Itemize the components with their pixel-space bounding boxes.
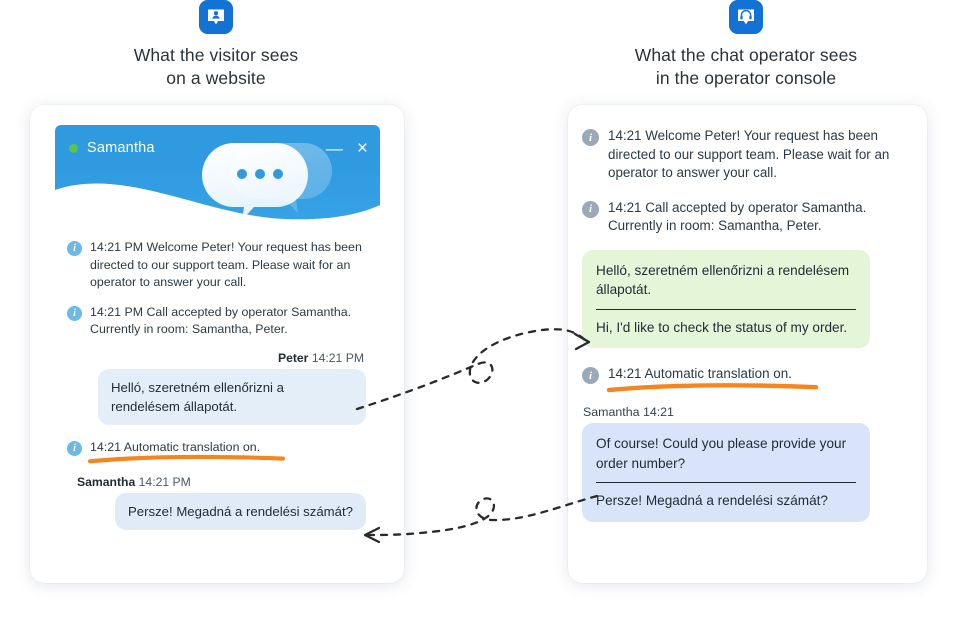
system-message-text: 14:21 PM Call accepted by operator Saman… bbox=[90, 304, 366, 339]
system-message-translation: i 14:21 Automatic translation on. bbox=[67, 439, 366, 457]
incoming-message: Helló, szeretném ellenőrizni a rendelése… bbox=[582, 250, 915, 349]
info-icon: i bbox=[67, 241, 82, 256]
system-message-text: 14:21 PM Welcome Peter! Your request has… bbox=[90, 239, 366, 292]
message-author: Samantha bbox=[583, 405, 639, 419]
message-time: 14:21 PM bbox=[139, 475, 191, 489]
system-message: i 14:21 Call accepted by operator Samant… bbox=[582, 199, 915, 236]
close-icon[interactable]: × bbox=[357, 139, 368, 158]
operator-message-list: i 14:21 Welcome Peter! Your request has … bbox=[582, 127, 915, 522]
system-message-text: 14:21 Welcome Peter! Your request has be… bbox=[608, 127, 915, 183]
info-icon: i bbox=[582, 129, 599, 146]
outgoing-message: Samantha 14:21 Of course! Could you plea… bbox=[582, 405, 915, 522]
column-header-operator: What the chat operator sees in the opera… bbox=[566, 0, 926, 90]
column-title-operator-line2: in the operator console bbox=[566, 67, 926, 90]
column-title-operator-line1: What the chat operator sees bbox=[566, 44, 926, 67]
column-title-visitor-line2: on a website bbox=[36, 67, 396, 90]
chat-widget-actions: — × bbox=[326, 139, 368, 158]
visitor-card: Samantha — × i 14:21 PM Welcome Peter! Y… bbox=[30, 105, 404, 583]
column-header-visitor: What the visitor sees on a website bbox=[36, 0, 396, 90]
message-meta: Samantha 14:21 PM bbox=[67, 475, 366, 489]
message-bubble: Persze! Megadná a rendelési számát? bbox=[115, 493, 366, 530]
chat-widget-titlebar: Samantha — × bbox=[55, 125, 380, 165]
column-title-visitor-line1: What the visitor sees bbox=[36, 44, 396, 67]
system-message: i 14:21 PM Call accepted by operator Sam… bbox=[67, 304, 366, 339]
header-wave-divider bbox=[55, 172, 380, 223]
info-icon: i bbox=[67, 441, 82, 456]
info-icon: i bbox=[582, 367, 599, 384]
minimize-icon[interactable]: — bbox=[326, 140, 343, 157]
visitor-message: Peter 14:21 PM Helló, szeretném ellenőri… bbox=[67, 351, 366, 425]
visitor-message-list: i 14:21 PM Welcome Peter! Your request h… bbox=[55, 223, 380, 530]
message-translated-text: Hi, I'd like to check the status of my o… bbox=[596, 309, 856, 338]
system-message-translation: i 14:21 Automatic translation on. bbox=[582, 365, 915, 384]
message-time: 14:21 PM bbox=[312, 351, 364, 365]
message-author: Samantha bbox=[77, 475, 135, 489]
message-original-text: Of course! Could you please provide your… bbox=[596, 434, 856, 473]
message-time: 14:21 bbox=[643, 405, 674, 419]
online-status-dot bbox=[69, 144, 78, 153]
infographic-stage: What the visitor sees on a website What … bbox=[0, 0, 958, 620]
headset-badge-icon bbox=[729, 0, 763, 34]
chat-widget-header: Samantha — × bbox=[55, 125, 380, 223]
info-icon: i bbox=[582, 201, 599, 218]
message-translated-text: Persze! Megadná a rendelési számát? bbox=[596, 482, 856, 511]
message-meta: Peter 14:21 PM bbox=[67, 351, 366, 365]
operator-message: Samantha 14:21 PM Persze! Megadná a rend… bbox=[67, 475, 366, 530]
system-message: i 14:21 PM Welcome Peter! Your request h… bbox=[67, 239, 366, 292]
system-message-text: 14:21 Call accepted by operator Samantha… bbox=[608, 199, 915, 236]
info-icon: i bbox=[67, 306, 82, 321]
message-author: Peter bbox=[278, 351, 309, 365]
visitor-badge-icon bbox=[199, 0, 233, 34]
system-message: i 14:21 Welcome Peter! Your request has … bbox=[582, 127, 915, 183]
chat-widget: Samantha — × i 14:21 PM Welcome Peter! Y… bbox=[55, 125, 380, 560]
column-title-operator: What the chat operator sees in the opera… bbox=[566, 44, 926, 90]
system-message-text: 14:21 Automatic translation on. bbox=[90, 439, 260, 457]
message-bubble: Helló, szeretném ellenőrizni a rendelése… bbox=[98, 369, 366, 425]
operator-card: i 14:21 Welcome Peter! Your request has … bbox=[568, 105, 927, 583]
column-title-visitor: What the visitor sees on a website bbox=[36, 44, 396, 90]
message-meta: Samantha 14:21 bbox=[582, 405, 915, 419]
system-message-text: 14:21 Automatic translation on. bbox=[608, 365, 792, 384]
chat-widget-operator-name: Samantha bbox=[87, 140, 155, 156]
message-original-text: Helló, szeretném ellenőrizni a rendelése… bbox=[596, 261, 856, 300]
